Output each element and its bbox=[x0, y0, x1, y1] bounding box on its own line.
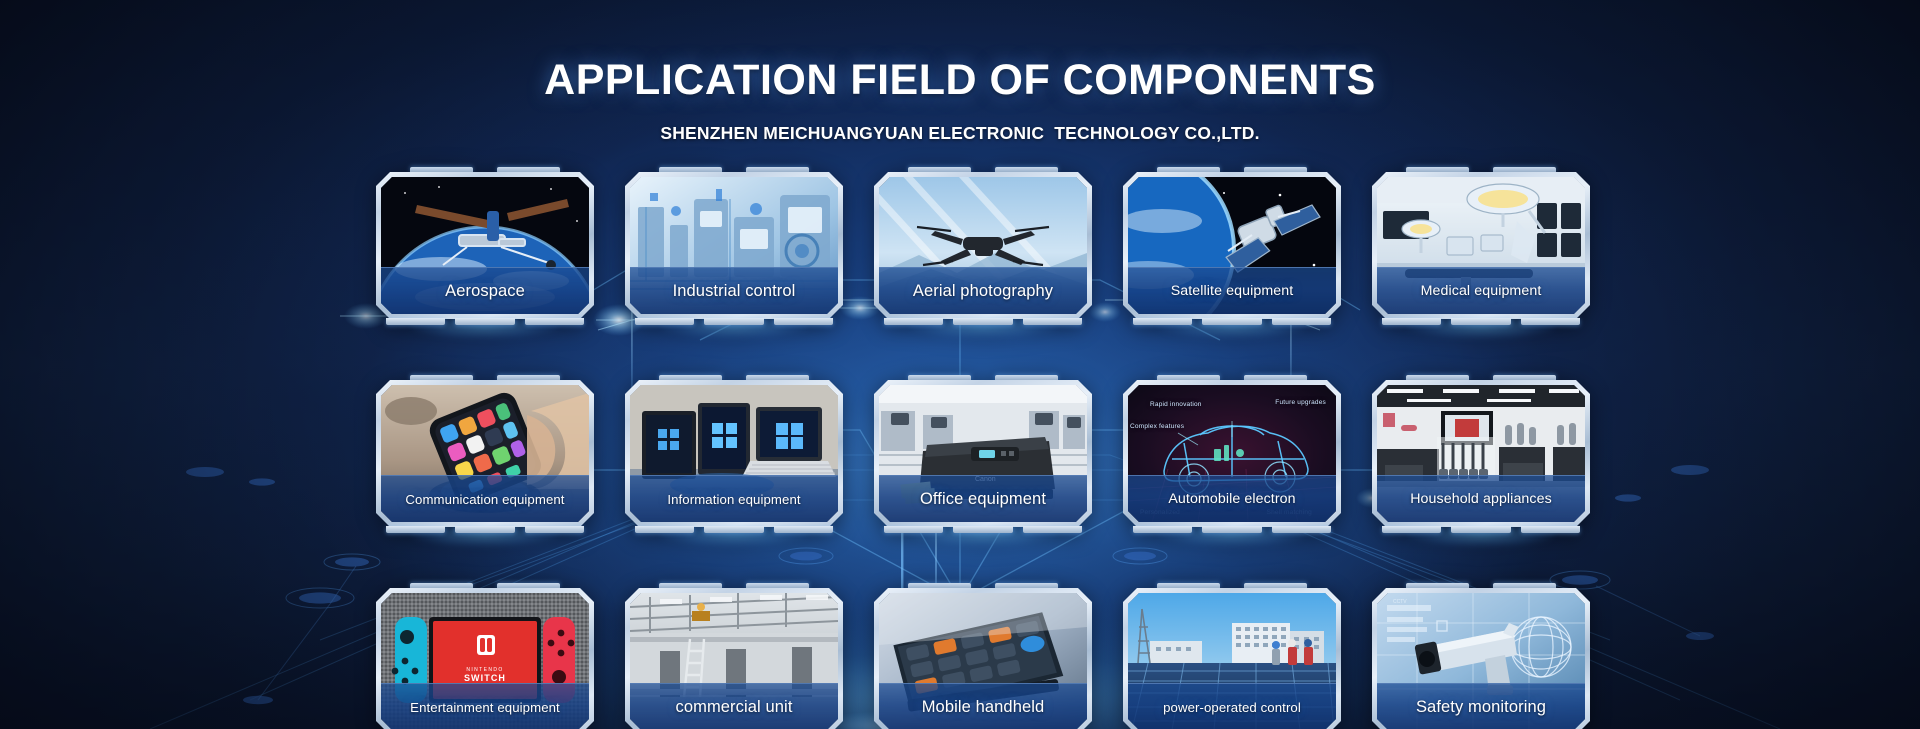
card-aerospace[interactable]: Aerospace bbox=[376, 172, 594, 319]
card-label-plate: Safety monitoring bbox=[1377, 683, 1585, 729]
card-bottom-feet bbox=[1133, 526, 1331, 533]
card-inner: Satellite equipment bbox=[1128, 177, 1336, 314]
card-bottom-feet bbox=[386, 526, 584, 533]
card-label-plate: Information equipment bbox=[630, 475, 838, 522]
card-office-equipment[interactable]: Canon Office equipment bbox=[874, 380, 1092, 527]
card-inner: Mobile handheld bbox=[879, 593, 1087, 729]
card-entertainment-equipment[interactable]: NINTENDO SWITCH Entertainment equipment bbox=[376, 588, 594, 729]
page-title: APPLICATION FIELD OF COMPONENTS bbox=[0, 56, 1920, 105]
card-bottom-feet bbox=[884, 526, 1082, 533]
automobile-annotation-mid-left: Complex features bbox=[1130, 423, 1184, 430]
card-label-plate: power-operated control bbox=[1128, 683, 1336, 729]
card-inner: CCTV Safety monitoring bbox=[1377, 593, 1585, 729]
card-inner: Rapid innovation Future upgrades Complex… bbox=[1128, 385, 1336, 522]
svg-text:CCTV: CCTV bbox=[1393, 599, 1407, 605]
automobile-annotation-top-right: Future upgrades bbox=[1275, 399, 1326, 406]
card-inner: Communication equipment bbox=[381, 385, 589, 522]
poster-stage: APPLICATION FIELD OF COMPONENTS SHENZHEN… bbox=[0, 0, 1920, 729]
card-inner: power-operated control bbox=[1128, 593, 1336, 729]
card-household-appliances[interactable]: Household appliances bbox=[1372, 380, 1590, 527]
card-satellite-equipment[interactable]: Satellite equipment bbox=[1123, 172, 1341, 319]
poster-header: APPLICATION FIELD OF COMPONENTS SHENZHEN… bbox=[0, 0, 1920, 144]
card-inner: Household appliances bbox=[1377, 385, 1585, 522]
card-label: Office equipment bbox=[916, 490, 1050, 509]
card-label-plate: Industrial control bbox=[630, 267, 838, 314]
card-inner: Industrial control bbox=[630, 177, 838, 314]
card-inner: Canon Office equipment bbox=[879, 385, 1087, 522]
card-bottom-feet bbox=[635, 526, 833, 533]
card-automobile-electron[interactable]: Rapid innovation Future upgrades Complex… bbox=[1123, 380, 1341, 527]
card-label: Safety monitoring bbox=[1412, 698, 1550, 717]
card-label-plate: Household appliances bbox=[1377, 475, 1585, 522]
card-medical-equipment[interactable]: Medical equipment bbox=[1372, 172, 1590, 319]
card-label: Automobile electron bbox=[1164, 491, 1299, 507]
card-label: Aerospace bbox=[441, 282, 529, 301]
card-label-plate: Satellite equipment bbox=[1128, 267, 1336, 314]
card-inner: NINTENDO SWITCH Entertainment equipment bbox=[381, 593, 589, 729]
card-label-plate: Entertainment equipment bbox=[381, 683, 589, 729]
card-commercial-unit[interactable]: commercial unit bbox=[625, 588, 843, 729]
card-bottom-feet bbox=[1382, 526, 1580, 533]
card-label: commercial unit bbox=[671, 698, 796, 717]
card-label-plate: Communication equipment bbox=[381, 475, 589, 522]
card-inner: commercial unit bbox=[630, 593, 838, 729]
card-bottom-feet bbox=[386, 318, 584, 325]
card-label: Medical equipment bbox=[1417, 283, 1546, 299]
card-inner: Aerial photography bbox=[879, 177, 1087, 314]
svg-text:SWITCH: SWITCH bbox=[464, 673, 506, 683]
company-subtitle: SHENZHEN MEICHUANGYUAN ELECTRONIC TECHNO… bbox=[0, 123, 1920, 144]
card-label: Entertainment equipment bbox=[406, 700, 564, 715]
card-safety-monitoring[interactable]: CCTV Safety monitoring bbox=[1372, 588, 1590, 729]
automobile-annotation-top-left: Rapid innovation bbox=[1150, 401, 1202, 408]
card-label: Mobile handheld bbox=[918, 698, 1049, 717]
card-label-plate: Automobile electron bbox=[1128, 475, 1336, 522]
card-bottom-feet bbox=[1382, 318, 1580, 325]
card-inner: Information equipment bbox=[630, 385, 838, 522]
card-label: Information equipment bbox=[663, 492, 804, 507]
card-label: Satellite equipment bbox=[1167, 283, 1298, 299]
card-aerial-photography[interactable]: Aerial photography bbox=[874, 172, 1092, 319]
card-label-plate: Office equipment bbox=[879, 475, 1087, 522]
card-bottom-feet bbox=[635, 318, 833, 325]
card-label-plate: commercial unit bbox=[630, 683, 838, 729]
card-power-operated-control[interactable]: power-operated control bbox=[1123, 588, 1341, 729]
card-label-plate: Mobile handheld bbox=[879, 683, 1087, 729]
card-label: Communication equipment bbox=[401, 492, 568, 507]
card-label: power-operated control bbox=[1159, 700, 1305, 715]
card-industrial-control[interactable]: Industrial control bbox=[625, 172, 843, 319]
card-bottom-feet bbox=[1133, 318, 1331, 325]
card-bottom-feet bbox=[884, 318, 1082, 325]
card-communication-equipment[interactable]: Communication equipment bbox=[376, 380, 594, 527]
card-label: Industrial control bbox=[669, 282, 800, 301]
card-label-plate: Aerospace bbox=[381, 267, 589, 314]
card-inner: Aerospace bbox=[381, 177, 589, 314]
card-mobile-handheld[interactable]: Mobile handheld bbox=[874, 588, 1092, 729]
card-label-plate: Medical equipment bbox=[1377, 267, 1585, 314]
card-label: Household appliances bbox=[1406, 491, 1556, 507]
application-field-grid: Aerospace bbox=[376, 172, 1591, 729]
card-label: Aerial photography bbox=[909, 282, 1057, 301]
card-information-equipment[interactable]: Information equipment bbox=[625, 380, 843, 527]
card-label-plate: Aerial photography bbox=[879, 267, 1087, 314]
card-inner: Medical equipment bbox=[1377, 177, 1585, 314]
